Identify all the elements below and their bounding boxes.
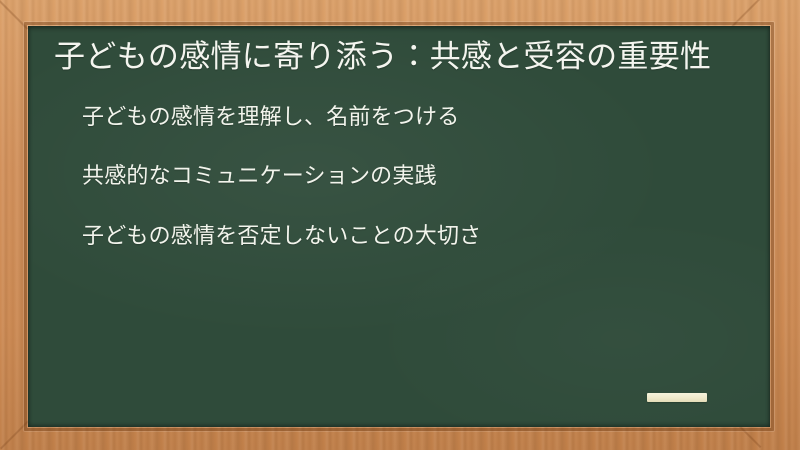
chalkboard-slide: 子どもの感情に寄り添う：共感と受容の重要性 子どもの感情を理解し、名前をつける … xyxy=(0,0,800,450)
chalkboard-surface: 子どもの感情に寄り添う：共感と受容の重要性 子どもの感情を理解し、名前をつける … xyxy=(28,26,770,427)
slide-title: 子どもの感情に寄り添う：共感と受容の重要性 xyxy=(54,36,746,78)
board-content: 子どもの感情に寄り添う：共感と受容の重要性 子どもの感情を理解し、名前をつける … xyxy=(28,26,770,427)
list-item: 共感的なコミュニケーションの実践 xyxy=(82,161,746,190)
chalk-stick xyxy=(647,393,707,402)
list-item: 子どもの感情を否定しないことの大切さ xyxy=(82,221,746,250)
list-item: 子どもの感情を理解し、名前をつける xyxy=(82,102,746,131)
bullet-list: 子どもの感情を理解し、名前をつける 共感的なコミュニケーションの実践 子どもの感… xyxy=(54,102,746,250)
